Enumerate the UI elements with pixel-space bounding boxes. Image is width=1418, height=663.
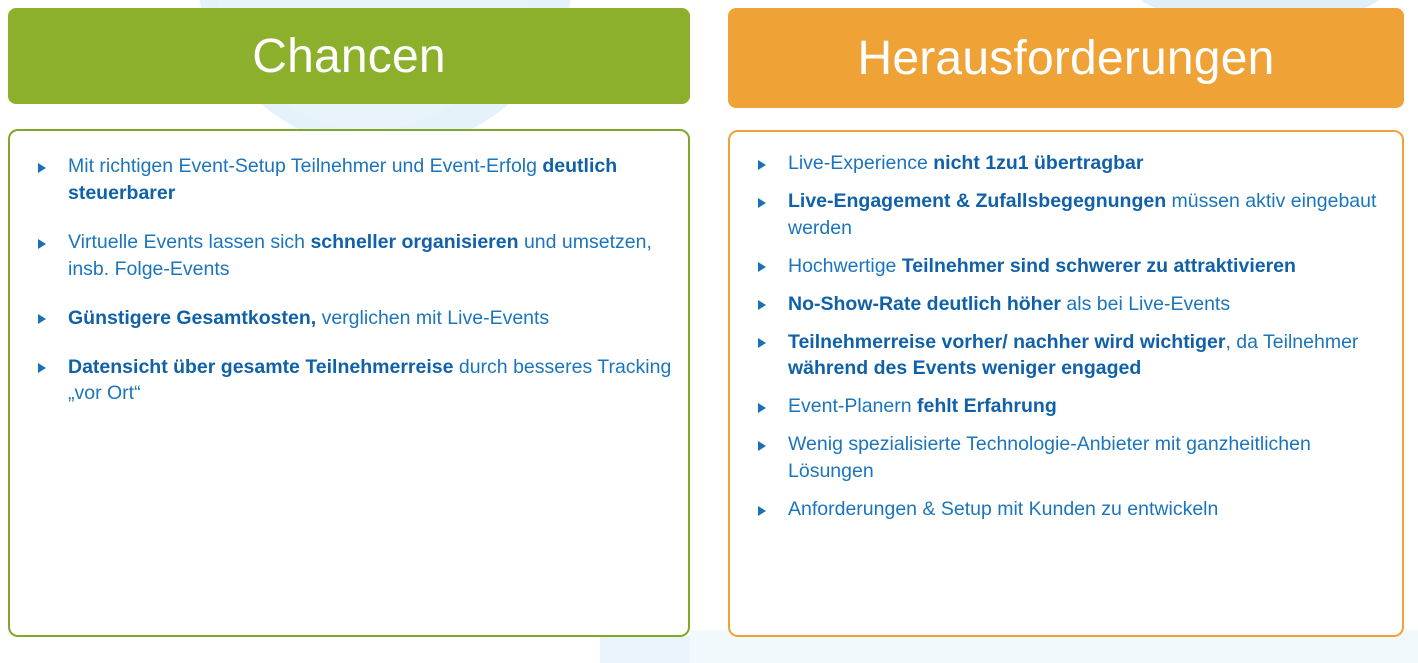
list-item: Live-Engagement & Zufallsbegegnungen müs… [752, 188, 1390, 242]
list-item-text: Hochwertige Teilnehmer sind schwerer zu … [788, 253, 1390, 280]
triangle-right-icon [758, 160, 766, 170]
triangle-right-icon [38, 239, 46, 249]
column-herausforderungen: Herausforderungen Live-Experience nicht … [720, 8, 1412, 657]
list-item-text: Wenig spezialisierte Technologie-Anbiete… [788, 431, 1390, 485]
triangle-right-icon [758, 506, 766, 516]
card-chancen: Mit richtigen Event-Setup Teilnehmer und… [8, 129, 690, 637]
triangle-right-icon [38, 163, 46, 173]
list-item: No-Show-Rate deutlich höher als bei Live… [752, 291, 1390, 318]
bullet-list-chancen: Mit richtigen Event-Setup Teilnehmer und… [32, 153, 674, 407]
triangle-right-icon [758, 198, 766, 208]
triangle-right-icon [758, 300, 766, 310]
triangle-right-icon [758, 441, 766, 451]
list-item: Anforderungen & Setup mit Kunden zu entw… [752, 496, 1390, 523]
list-item: Mit richtigen Event-Setup Teilnehmer und… [32, 153, 674, 207]
list-item: Datensicht über gesamte Teilnehmerreise … [32, 354, 674, 408]
list-item: Virtuelle Events lassen sich schneller o… [32, 229, 674, 283]
column-chancen: Chancen Mit richtigen Event-Setup Teilne… [6, 8, 698, 657]
bullet-list-herausforderungen: Live-Experience nicht 1zu1 übertragbar L… [752, 150, 1390, 523]
slide-root: Chancen Mit richtigen Event-Setup Teilne… [0, 0, 1418, 663]
list-item: Wenig spezialisierte Technologie-Anbiete… [752, 431, 1390, 485]
list-item-text: Virtuelle Events lassen sich schneller o… [68, 229, 674, 283]
list-item-text: Event-Planern fehlt Erfahrung [788, 393, 1390, 420]
list-item-text: Live-Engagement & Zufallsbegegnungen müs… [788, 188, 1390, 242]
list-item-text: Teilnehmerreise vorher/ nachher wird wic… [788, 329, 1390, 383]
list-item-text: No-Show-Rate deutlich höher als bei Live… [788, 291, 1390, 318]
triangle-right-icon [38, 363, 46, 373]
card-herausforderungen: Live-Experience nicht 1zu1 übertragbar L… [728, 130, 1404, 637]
list-item-text: Anforderungen & Setup mit Kunden zu entw… [788, 496, 1390, 523]
triangle-right-icon [758, 338, 766, 348]
triangle-right-icon [758, 262, 766, 272]
list-item: Event-Planern fehlt Erfahrung [752, 393, 1390, 420]
header-banner-chancen: Chancen [8, 8, 690, 104]
list-item-text: Mit richtigen Event-Setup Teilnehmer und… [68, 153, 674, 207]
header-banner-herausforderungen: Herausforderungen [728, 8, 1404, 108]
list-item: Teilnehmerreise vorher/ nachher wird wic… [752, 329, 1390, 383]
list-item-text: Datensicht über gesamte Teilnehmerreise … [68, 354, 674, 408]
triangle-right-icon [38, 314, 46, 324]
list-item: Günstigere Gesamtkosten, verglichen mit … [32, 305, 674, 332]
two-column-layout: Chancen Mit richtigen Event-Setup Teilne… [0, 0, 1418, 663]
list-item-text: Live-Experience nicht 1zu1 übertragbar [788, 150, 1390, 177]
list-item: Hochwertige Teilnehmer sind schwerer zu … [752, 253, 1390, 280]
list-item: Live-Experience nicht 1zu1 übertragbar [752, 150, 1390, 177]
triangle-right-icon [758, 403, 766, 413]
list-item-text: Günstigere Gesamtkosten, verglichen mit … [68, 305, 674, 332]
